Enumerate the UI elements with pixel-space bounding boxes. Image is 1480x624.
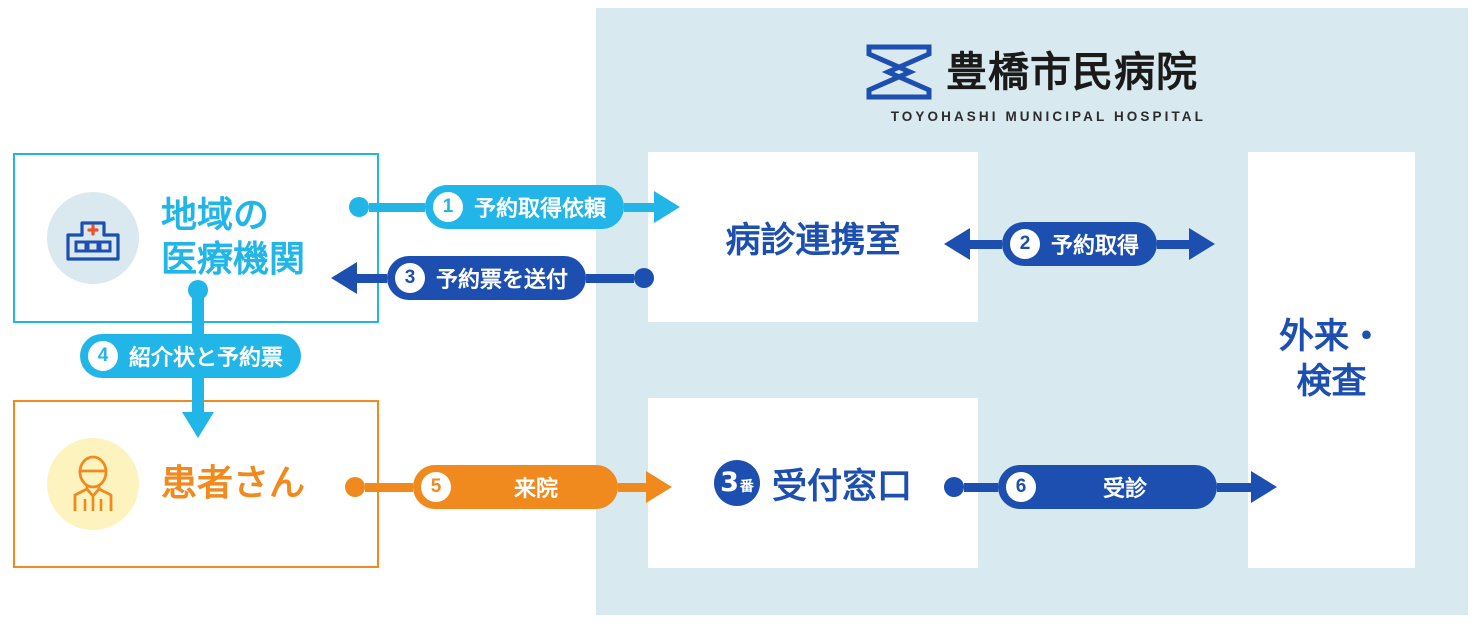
step-6-stem-right (1217, 483, 1251, 492)
renkei-room-title: 病診連携室 (648, 152, 978, 322)
step-5-start-dot (345, 477, 365, 497)
step-6-number: 6 (1006, 472, 1036, 502)
hospital-name-en: TOYOHASHI MUNICIPAL HOSPITAL (866, 109, 1206, 124)
step-4-connector: 4 紹介状と予約票 (178, 280, 218, 450)
step-5-label: 来院 (514, 471, 558, 503)
step-5-stem-right (618, 483, 646, 492)
step-3-arrowhead-left (331, 262, 357, 294)
hospital-name-ja: 豊橋市民病院 (946, 52, 1198, 93)
step-1-number: 1 (433, 192, 463, 222)
step-5-arrowhead-right (646, 471, 672, 503)
step-2-arrowhead-right (1189, 228, 1215, 260)
step-1-start-dot (349, 197, 369, 217)
step-3-end-dot (634, 268, 654, 288)
step-5-number: 5 (421, 472, 451, 502)
step-1-connector: 1 予約取得依頼 (349, 185, 680, 229)
step-6-stem-left (964, 483, 998, 492)
step-1-arrowhead-right (654, 191, 680, 223)
step-3-number: 3 (395, 263, 425, 293)
step-6-label: 受診 (1103, 471, 1147, 503)
step-3-connector: 3 予約票を送付 (331, 256, 654, 300)
step-6-start-dot (944, 477, 964, 497)
step-3-pill: 3 予約票を送付 (387, 256, 586, 300)
step-6-arrowhead-right (1251, 471, 1277, 503)
patient-label: 患者さん (161, 462, 305, 506)
step-2-connector: 2 予約取得 (944, 222, 1215, 266)
patient-person-icon (47, 438, 139, 530)
reception-title: 3番 受付窓口 (648, 398, 978, 568)
step-4-arrowhead-down (182, 412, 214, 438)
step-2-stem-right (1157, 240, 1189, 249)
step-5-stem-left (365, 483, 413, 492)
step-6-connector: 6 受診 (944, 465, 1277, 509)
hospital-logo: 豊橋市民病院 TOYOHASHI MUNICIPAL HOSPITAL (866, 44, 1206, 134)
step-5-pill: 5 来院 (413, 465, 618, 509)
renkei-room-label: 病診連携室 (725, 212, 900, 263)
step-1-stem-left (369, 203, 425, 212)
step-3-stem-left (357, 274, 387, 283)
reception-badge-suffix: 番 (740, 464, 754, 510)
clinic-label: 地域の 医療機関 (161, 194, 305, 282)
step-2-label: 予約取得 (1051, 228, 1139, 260)
step-2-pill: 2 予約取得 (1002, 222, 1157, 266)
step-3-label: 予約票を送付 (436, 262, 568, 294)
reception-badge-number: 3 (720, 460, 739, 506)
step-4-label: 紹介状と予約票 (129, 340, 283, 372)
step-1-pill: 1 予約取得依頼 (425, 185, 624, 229)
step-2-arrowhead-left (944, 228, 970, 260)
step-2-number: 2 (1010, 229, 1040, 259)
step-1-stem-right (624, 203, 654, 212)
step-6-pill: 6 受診 (998, 465, 1217, 509)
clinic-building-icon (47, 192, 139, 284)
reception-counter-badge: 3番 (714, 460, 760, 506)
step-4-pill: 4 紹介状と予約票 (80, 334, 301, 378)
toyohashi-hourglass-logo-icon (866, 44, 932, 100)
step-1-label: 予約取得依頼 (474, 191, 606, 223)
outpatient-exam-label: 外来・ 検査 (1279, 315, 1384, 406)
step-4-number: 4 (88, 341, 118, 371)
step-2-stem-left (970, 240, 1002, 249)
step-3-stem-right (586, 274, 634, 283)
step-5-connector: 5 来院 (345, 465, 672, 509)
reception-label: 受付窓口 (772, 458, 912, 509)
referral-flow-diagram: 豊橋市民病院 TOYOHASHI MUNICIPAL HOSPITAL 地域の … (0, 0, 1480, 624)
